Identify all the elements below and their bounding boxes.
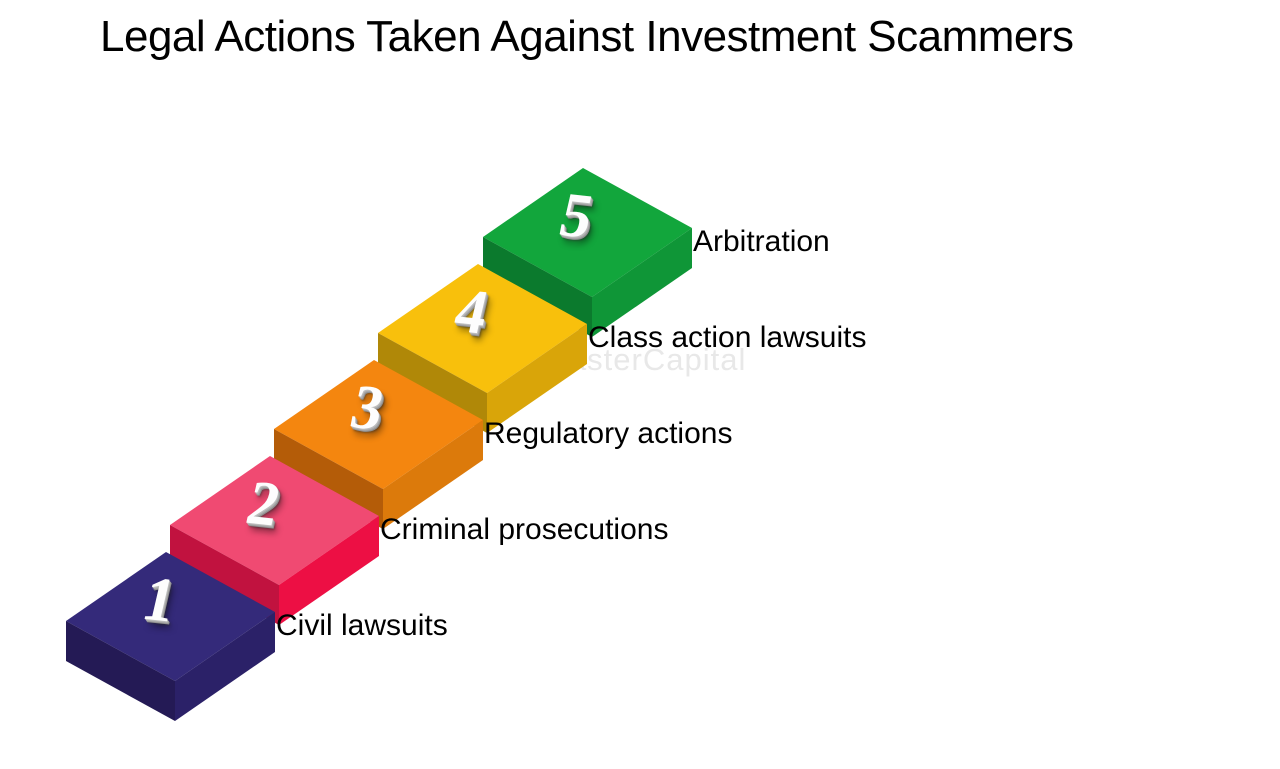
step-2-label: Criminal prosecutions <box>380 515 668 545</box>
step-1-label: Civil lawsuits <box>276 611 448 641</box>
step-3-label: Regulatory actions <box>484 419 732 449</box>
step-block-1[interactable]: 1 Civil lawsuits <box>48 539 348 769</box>
slide-canvas: Legal Actions Taken Against Investment S… <box>0 0 1280 720</box>
step-5-label: Arbitration <box>693 227 830 257</box>
step-4-label: Class action lawsuits <box>588 323 866 353</box>
page-title: Legal Actions Taken Against Investment S… <box>100 12 1170 62</box>
step-1-shape <box>48 539 348 769</box>
